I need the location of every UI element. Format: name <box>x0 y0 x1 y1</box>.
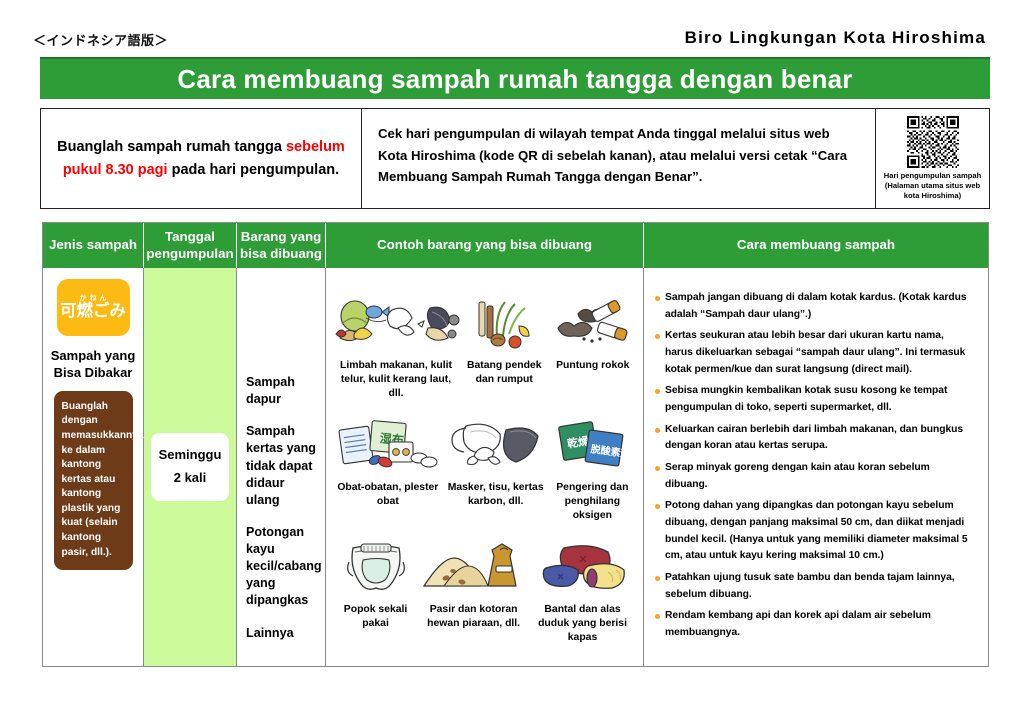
examples-row: 湿布 Obat-obatan, plester obat <box>332 412 637 534</box>
waste-type-name: Sampah yang Bisa Dibakar <box>43 347 143 382</box>
bullet-dot-icon <box>655 466 660 471</box>
issuer-name: Biro Lingkungan Kota Hiroshima <box>685 28 986 48</box>
example-caption: Pasir dan kotoran hewan piaraan, dll. <box>419 603 528 631</box>
accepted-item: Sampah dapur <box>246 374 320 408</box>
cell-collection-frequency: Seminggu 2 kali <box>144 268 237 666</box>
example-item: Bantal dan alas duduk yang berisi kapas <box>528 534 637 656</box>
waste-table: Jenis sampah Tanggal pengumpulan Barang … <box>42 222 989 667</box>
cell-accepted-items: Sampah dapur Sampah kertas yang tidak da… <box>237 268 326 666</box>
qr-caption: Hari pengumpulan sampah (Halaman utama s… <box>876 171 989 201</box>
column-header-waste-type: Jenis sampah <box>43 223 144 268</box>
example-caption: Obat-obatan, plester obat <box>332 481 444 509</box>
table-header-row: Jenis sampah Tanggal pengumpulan Barang … <box>43 223 988 268</box>
instruction-item: Serap minyak goreng dengan kain atau kor… <box>653 460 972 493</box>
bullet-dot-icon <box>655 389 660 394</box>
instruction-item: Keluarkan cairan berlebih dari limbah ma… <box>653 422 972 455</box>
column-header-collection-day: Tanggal pengumpulan <box>144 223 237 268</box>
badge-label: 可燃ごみ <box>60 302 126 319</box>
example-caption: Popok sekali pakai <box>332 603 419 631</box>
qr-caption-line2: (Halaman utama situs web kota Hiroshima) <box>876 181 989 201</box>
instruction-text: Sampah jangan dibuang di dalam kotak kar… <box>665 290 972 323</box>
cell-examples: Limbah makanan, kulit telur, kulit keran… <box>326 268 644 666</box>
waste-type-note: Buanglah dengan memasukkannya ke dalam k… <box>54 391 133 570</box>
example-caption: Masker, tisu, kertas karbon, dll. <box>444 481 548 509</box>
example-item: Pasir dan kotoran hewan piaraan, dll. <box>419 534 528 656</box>
language-tag: ＜インドネシア語版＞ <box>33 30 168 49</box>
bullet-dot-icon <box>655 614 660 619</box>
notice-deadline-text-1: Buanglah sampah rumah tangga <box>57 139 286 155</box>
example-caption: Bantal dan alas duduk yang berisi kapas <box>528 603 637 645</box>
column-header-examples: Contoh barang yang bisa dibuang <box>326 223 644 268</box>
bullet-dot-icon <box>655 334 660 339</box>
collection-frequency-pill: Seminggu 2 kali <box>151 433 229 502</box>
poster-page: ＜インドネシア語版＞ Biro Lingkungan Kota Hiroshim… <box>0 0 1024 726</box>
notice-qr-block: Hari pengumpulan sampah (Halaman utama s… <box>876 109 989 208</box>
instruction-item: Rendam kembang api dan korek api dalam a… <box>653 608 972 641</box>
notice-deadline-highlight-1: sebelum <box>286 139 345 155</box>
example-item: Masker, tisu, kertas karbon, dll. <box>444 412 548 534</box>
instruction-item: Kertas seukuran atau lebih besar dari uk… <box>653 328 972 378</box>
example-item: Batang pendek dan rumput <box>460 290 549 412</box>
frequency-line2: 2 kali <box>153 467 227 490</box>
instruction-text: Patahkan ujung tusuk sate bambu dan bend… <box>665 570 972 603</box>
example-caption: Batang pendek dan rumput <box>460 359 549 387</box>
cigarette-butts-icon <box>554 290 632 352</box>
column-header-accepted-items: Barang yang bisa dibuang <box>237 223 326 268</box>
example-item: Limbah makanan, kulit telur, kulit keran… <box>332 290 460 412</box>
instruction-text: Serap minyak goreng dengan kain atau kor… <box>665 460 972 493</box>
qr-code-icon[interactable] <box>907 116 959 168</box>
accepted-item: Potongan kayu kecil/cabang yang dipangka… <box>246 524 320 610</box>
instruction-item: Potong dahan yang dipangkas dan potongan… <box>653 498 972 565</box>
pet-sand-icon <box>420 534 528 596</box>
bullet-dot-icon <box>655 296 660 301</box>
page-title: Cara membuang sampah rumah tangga dengan… <box>177 64 852 95</box>
food-waste-icon <box>332 290 460 352</box>
notice-deadline: Buanglah sampah rumah tangga sebelum puk… <box>41 109 362 208</box>
example-item: 湿布 Obat-obatan, plester obat <box>332 412 444 534</box>
diaper-icon <box>339 534 413 596</box>
notice-check-schedule-text: Cek hari pengumpulan di wilayah tempat A… <box>378 123 861 188</box>
table-row: かねん 可燃ごみ Sampah yang Bisa Dibakar Buangl… <box>43 268 988 666</box>
notice-check-schedule: Cek hari pengumpulan di wilayah tempat A… <box>362 109 876 208</box>
example-caption: Puntung rokok <box>556 359 629 373</box>
examples-row: Limbah makanan, kulit telur, kulit keran… <box>332 290 637 412</box>
instruction-item: Sebisa mungkin kembalikan kotak susu kos… <box>653 383 972 416</box>
example-caption: Limbah makanan, kulit telur, kulit keran… <box>332 359 460 401</box>
burnable-waste-badge: かねん 可燃ごみ <box>57 279 130 336</box>
example-caption: Pengering dan penghilang oksigen <box>548 481 637 523</box>
bullet-dot-icon <box>655 576 660 581</box>
mask-tissue-icon <box>444 412 548 474</box>
desiccant-packet-icon: 乾燥剤 脱酸素剤 <box>555 412 629 474</box>
notice-band: Buanglah sampah rumah tangga sebelum puk… <box>40 108 990 209</box>
bullet-dot-icon <box>655 428 660 433</box>
notice-deadline-highlight-2: pukul 8.30 pagi <box>63 162 168 178</box>
page-title-bar: Cara membuang sampah rumah tangga dengan… <box>40 57 990 99</box>
instruction-text: Rendam kembang api dan korek api dalam a… <box>665 608 972 641</box>
meta-row: ＜インドネシア語版＞ Biro Lingkungan Kota Hiroshim… <box>0 30 1024 56</box>
example-item: Puntung rokok <box>549 290 638 412</box>
notice-deadline-text-2: pada hari pengumpulan. <box>168 162 340 178</box>
bullet-dot-icon <box>655 504 660 509</box>
qr-caption-line1: Hari pengumpulan sampah <box>884 171 981 180</box>
accepted-item: Lainnya <box>246 625 320 642</box>
instruction-item: Patahkan ujung tusuk sate bambu dan bend… <box>653 570 972 603</box>
cell-disposal-instructions: Sampah jangan dibuang di dalam kotak kar… <box>644 268 988 666</box>
instruction-text: Keluarkan cairan berlebih dari limbah ma… <box>665 422 972 455</box>
examples-row: Popok sekali pakai <box>332 534 637 656</box>
medicine-patch-icon: 湿布 <box>333 412 443 474</box>
frequency-line1: Seminggu <box>153 444 227 467</box>
instruction-item: Sampah jangan dibuang di dalam kotak kar… <box>653 290 972 323</box>
instruction-text: Kertas seukuran atau lebih besar dari uk… <box>665 328 972 378</box>
instruction-text: Potong dahan yang dipangkas dan potongan… <box>665 498 972 565</box>
cell-waste-type: かねん 可燃ごみ Sampah yang Bisa Dibakar Buangl… <box>43 268 144 666</box>
accepted-item: Sampah kertas yang tidak dapat didaur ul… <box>246 423 320 509</box>
example-item: 乾燥剤 脱酸素剤 Pengering dan penghilang oksige… <box>548 412 637 534</box>
instruction-text: Sebisa mungkin kembalikan kotak susu kos… <box>665 383 972 416</box>
branches-grass-icon <box>471 290 537 352</box>
cushion-pillow-icon <box>530 534 636 596</box>
example-item: Popok sekali pakai <box>332 534 419 656</box>
column-header-how-to-dispose: Cara membuang sampah <box>644 223 988 268</box>
